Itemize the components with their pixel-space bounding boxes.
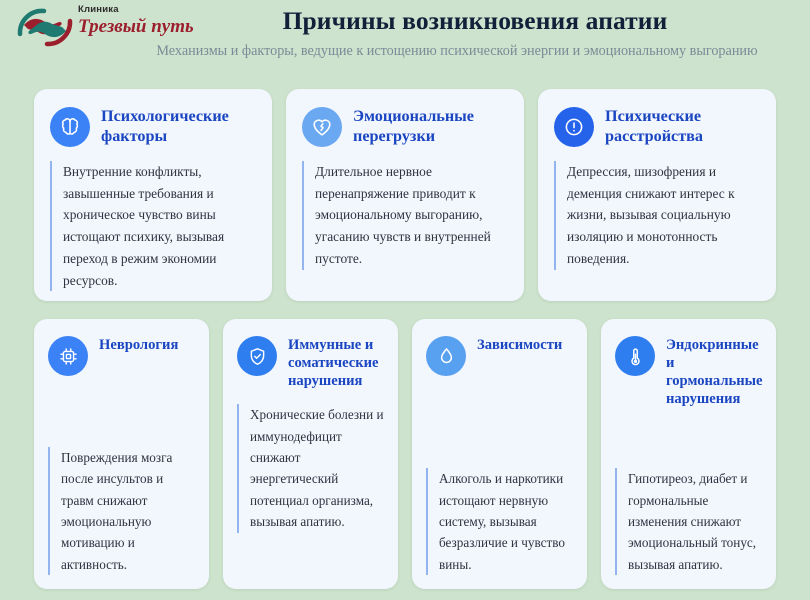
card-immune-somatic: Иммунные и соматические нарушения Хронич… (223, 319, 398, 589)
card-title: Неврология (99, 334, 178, 354)
card-title: Психологические факторы (101, 105, 256, 147)
card-title: Иммунные и соматические нарушения (288, 334, 384, 390)
card-title: Эндокринные и гормональные нарушения (666, 334, 763, 408)
clinic-logo: Клиника Трезвый путь (14, 2, 214, 52)
cards-row-bottom: Неврология Повреждения мозга после инсул… (0, 319, 810, 589)
water-drop-icon (426, 336, 466, 376)
card-body-text: Длительное нервное перенапряжение привод… (302, 161, 508, 270)
card-body-text: Внутренние конфликты, завышенные требова… (50, 161, 256, 291)
card-title: Эмоциональные перегрузки (353, 105, 508, 147)
card-emotional-overload: Эмоциональные перегрузки Длительное нерв… (286, 89, 524, 301)
card-psychological-factors: Психологические факторы Внутренние конфл… (34, 89, 272, 301)
card-mental-disorders: Психические расстройства Депрессия, шизо… (538, 89, 776, 301)
cards-row-top: Психологические факторы Внутренние конфл… (0, 89, 810, 301)
page-header: Клиника Трезвый путь Причины возникновен… (0, 0, 810, 68)
card-header: Иммунные и соматические нарушения (237, 334, 384, 390)
cpu-chip-icon (48, 336, 88, 376)
card-neurology: Неврология Повреждения мозга после инсул… (34, 319, 209, 589)
card-endocrine-hormonal: Эндокринные и гормональные нарушения Гип… (601, 319, 776, 589)
logo-clinic-name: Трезвый путь (78, 16, 194, 38)
card-header: Эмоциональные перегрузки (302, 105, 508, 147)
card-body-text: Хронические болезни и иммунодефицит сниж… (237, 404, 384, 532)
card-header: Психические расстройства (554, 105, 760, 147)
thermometer-icon (615, 336, 655, 376)
card-addictions: Зависимости Алкоголь и наркотики истощаю… (412, 319, 587, 589)
shield-check-icon (237, 336, 277, 376)
card-header: Эндокринные и гормональные нарушения (615, 334, 762, 408)
card-body-text: Алкоголь и наркотики истощают нервную си… (426, 468, 573, 575)
logo-wordmark: Клиника Трезвый путь (78, 2, 194, 37)
logo-clinic-label: Клиника (78, 5, 194, 15)
broken-heart-icon (302, 107, 342, 147)
card-title: Психические расстройства (605, 105, 760, 147)
brain-icon (50, 107, 90, 147)
card-header: Зависимости (426, 334, 573, 376)
card-header: Психологические факторы (50, 105, 256, 147)
card-body-text: Депрессия, шизофрения и деменция снижают… (554, 161, 760, 270)
card-header: Неврология (48, 334, 195, 376)
card-body-text: Гипотиреоз, диабет и гормональные измене… (615, 468, 762, 575)
card-title: Зависимости (477, 334, 562, 354)
hands-heart-logo-icon (14, 4, 76, 50)
exclamation-circle-icon (554, 107, 594, 147)
card-body-text: Повреждения мозга после инсультов и трав… (48, 447, 195, 575)
